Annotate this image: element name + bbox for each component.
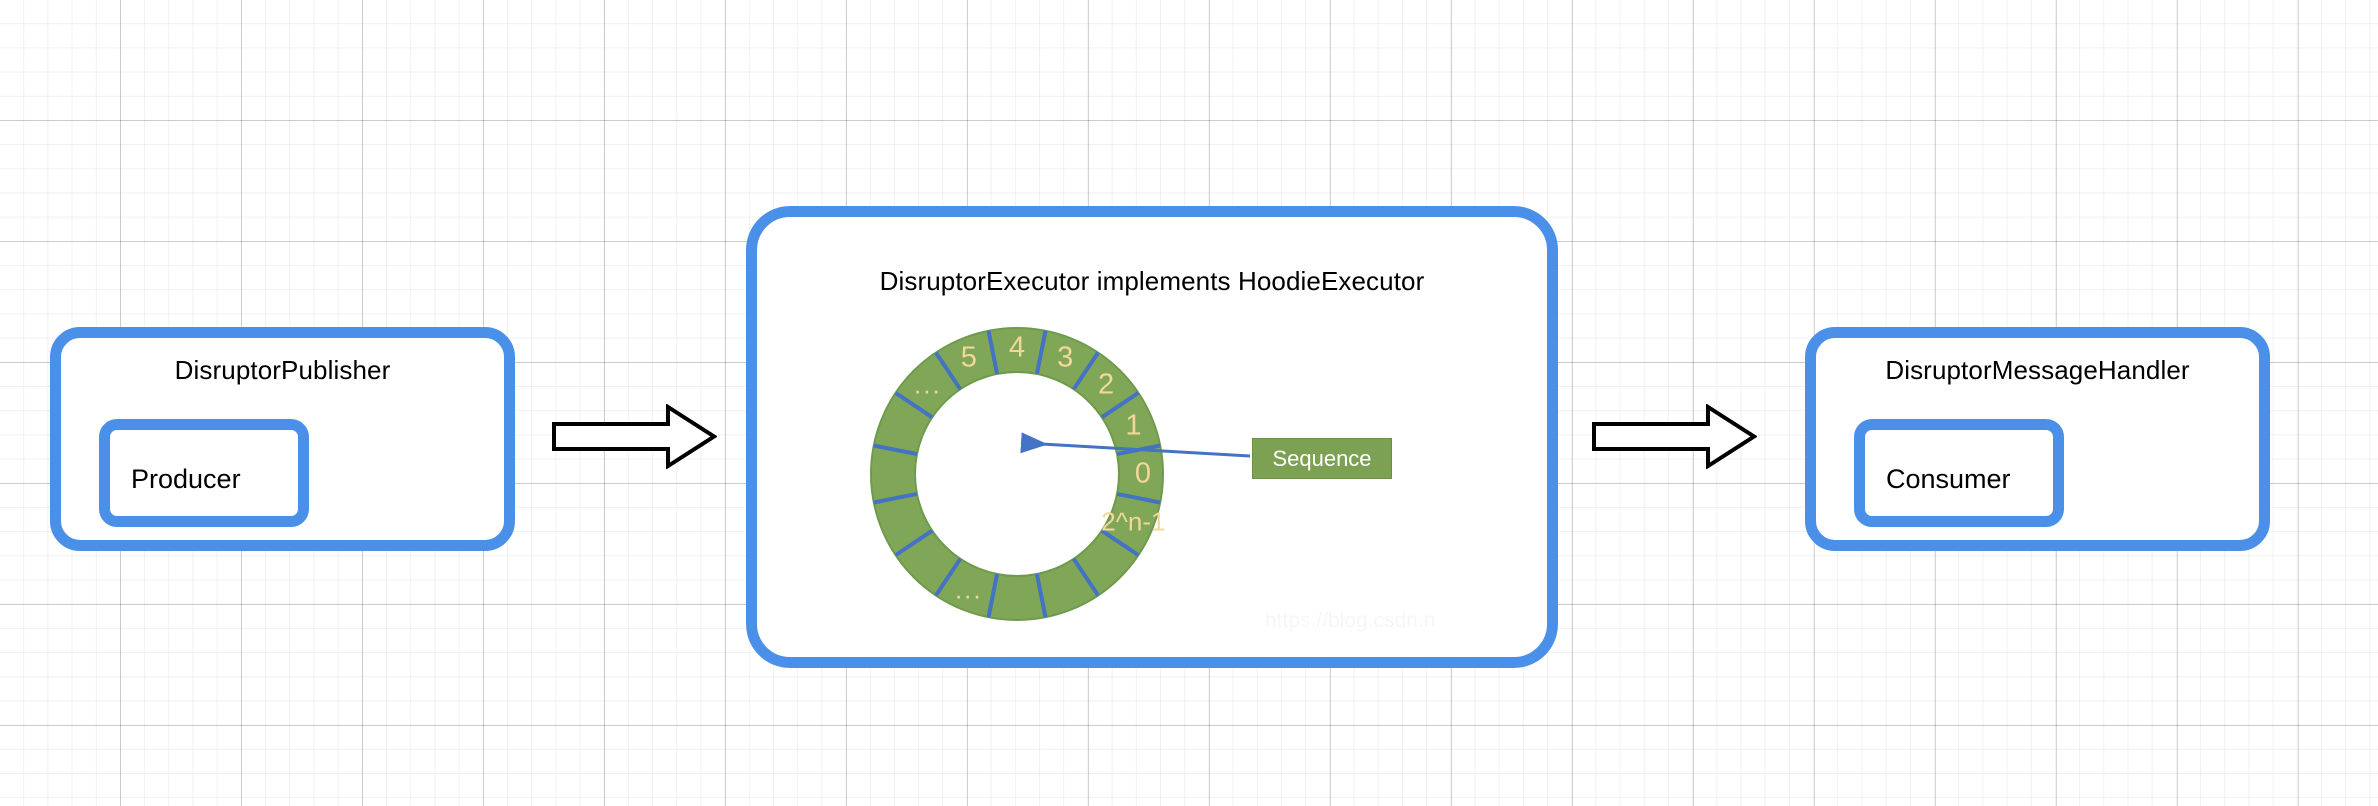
watermark-text: https://blog.csdn.n [1265, 609, 1435, 633]
sequence-box[interactable]: Sequence [1252, 438, 1392, 479]
disruptor-publisher-title: DisruptorPublisher [61, 355, 504, 385]
ring-slot-label: 4 [1009, 334, 1025, 363]
ring-slot-label: ... [955, 576, 983, 605]
disruptor-publisher-panel[interactable]: DisruptorPublisher Producer [50, 327, 515, 551]
diagram-canvas: DisruptorPublisher Producer DisruptorExe… [0, 0, 2378, 806]
arrow-shape [1594, 407, 1754, 466]
sequence-connector [1014, 432, 1254, 472]
disruptor-executor-panel[interactable]: DisruptorExecutor implements HoodieExecu… [746, 206, 1558, 668]
arrow-publisher-to-executor [552, 404, 717, 469]
ring-slot-label: 2 [1098, 370, 1114, 399]
sequence-connector-line [1024, 443, 1250, 456]
ring-inner-hole [915, 372, 1119, 576]
arrow-shape [554, 407, 714, 466]
disruptor-message-handler-title: DisruptorMessageHandler [1816, 355, 2259, 385]
producer-box[interactable]: Producer [99, 419, 309, 527]
arrow-executor-to-handler [1592, 404, 1757, 469]
ring-slot-label: 3 [1057, 343, 1073, 372]
ring-buffer: 012345...2^n-1... [864, 321, 1170, 627]
ring-slot-label: ... [914, 370, 942, 399]
disruptor-executor-title: DisruptorExecutor implements HoodieExecu… [757, 266, 1547, 296]
ring-slot-label: 2^n-1 [1101, 508, 1165, 537]
disruptor-message-handler-panel[interactable]: DisruptorMessageHandler Consumer [1805, 327, 2270, 551]
producer-label: Producer [131, 464, 241, 494]
consumer-box[interactable]: Consumer [1854, 419, 2064, 527]
consumer-label: Consumer [1886, 464, 2011, 494]
ring-slot-label: 5 [961, 343, 977, 372]
